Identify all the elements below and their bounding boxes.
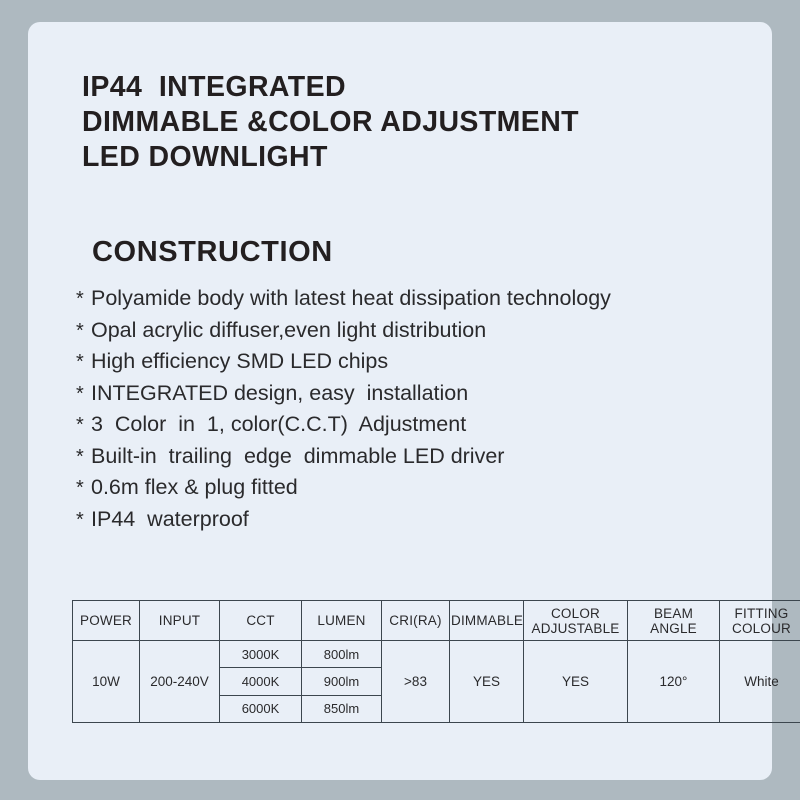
- title-line-1: IP44 INTEGRATED: [82, 70, 742, 105]
- bullet-marker-icon: *: [76, 347, 91, 378]
- page-title: IP44 INTEGRATED DIMMABLE &COLOR ADJUSTME…: [82, 70, 742, 175]
- column-header-color-adjustable: COLOR ADJUSTABLE: [524, 601, 628, 641]
- list-item: * 0.6m flex & plug fitted: [76, 472, 736, 504]
- cell-lumen-1: 800lm: [302, 641, 382, 668]
- bullet-marker-icon: *: [76, 473, 91, 504]
- bullet-marker-icon: *: [76, 410, 91, 441]
- list-item-label: Polyamide body with latest heat dissipat…: [91, 283, 611, 314]
- title-line-3: LED DOWNLIGHT: [82, 140, 742, 175]
- fitting-colour-line-2: COLOUR: [732, 621, 791, 636]
- color-adjustable-line-1: COLOR: [551, 606, 600, 621]
- cell-lumen-2: 900lm: [302, 668, 382, 695]
- column-header-lumen: LUMEN: [302, 601, 382, 641]
- list-item-label: 3 Color in 1, color(C.C.T) Adjustment: [91, 409, 466, 440]
- list-item-label: High efficiency SMD LED chips: [91, 346, 388, 377]
- cell-fitting-colour: White: [720, 641, 800, 723]
- list-item-label: INTEGRATED design, easy installation: [91, 378, 468, 409]
- column-header-fitting-colour: FITTING COLOUR: [720, 601, 800, 641]
- column-header-dimmable: DIMMABLE: [450, 601, 524, 641]
- fitting-colour-line-1: FITTING: [735, 606, 789, 621]
- column-header-power: POWER: [73, 601, 140, 641]
- column-header-beam-angle: BEAM ANGLE: [628, 601, 720, 641]
- cell-cct-3: 6000K: [220, 695, 302, 722]
- list-item: * INTEGRATED design, easy installation: [76, 378, 736, 410]
- list-item-label: IP44 waterproof: [91, 504, 249, 535]
- color-adjustable-line-2: ADJUSTABLE: [531, 621, 619, 636]
- column-header-input: INPUT: [140, 601, 220, 641]
- list-item: * High efficiency SMD LED chips: [76, 346, 736, 378]
- list-item-label: Built-in trailing edge dimmable LED driv…: [91, 441, 504, 472]
- cell-color-adjustable: YES: [524, 641, 628, 723]
- bullet-marker-icon: *: [76, 284, 91, 315]
- cell-cct-2: 4000K: [220, 668, 302, 695]
- list-item-label: 0.6m flex & plug fitted: [91, 472, 298, 503]
- cell-dimmable: YES: [450, 641, 524, 723]
- title-line-2: DIMMABLE &COLOR ADJUSTMENT: [82, 105, 742, 140]
- column-header-cct: CCT: [220, 601, 302, 641]
- list-item: * 3 Color in 1, color(C.C.T) Adjustment: [76, 409, 736, 441]
- section-heading-construction: CONSTRUCTION: [92, 236, 333, 269]
- list-item: * Built-in trailing edge dimmable LED dr…: [76, 441, 736, 473]
- list-item-label: Opal acrylic diffuser,even light distrib…: [91, 315, 486, 346]
- specification-table: POWER INPUT CCT LUMEN CRI(RA) DIMMABLE C…: [72, 600, 800, 723]
- list-item: * Polyamide body with latest heat dissip…: [76, 283, 736, 315]
- cell-input: 200-240V: [140, 641, 220, 723]
- cell-lumen-3: 850lm: [302, 695, 382, 722]
- construction-feature-list: * Polyamide body with latest heat dissip…: [76, 283, 736, 535]
- cell-cct-1: 3000K: [220, 641, 302, 668]
- bullet-marker-icon: *: [76, 379, 91, 410]
- bullet-marker-icon: *: [76, 316, 91, 347]
- bullet-marker-icon: *: [76, 505, 91, 536]
- cell-beam-angle: 120°: [628, 641, 720, 723]
- bullet-marker-icon: *: [76, 442, 91, 473]
- list-item: * IP44 waterproof: [76, 504, 736, 536]
- list-item: * Opal acrylic diffuser,even light distr…: [76, 315, 736, 347]
- table-header-row: POWER INPUT CCT LUMEN CRI(RA) DIMMABLE C…: [73, 601, 800, 641]
- table-row: 10W 200-240V 3000K 800lm >83 YES YES 120…: [73, 641, 800, 668]
- product-spec-card: IP44 INTEGRATED DIMMABLE &COLOR ADJUSTME…: [28, 22, 772, 780]
- cell-power: 10W: [73, 641, 140, 723]
- cell-cri: >83: [382, 641, 450, 723]
- column-header-cri: CRI(RA): [382, 601, 450, 641]
